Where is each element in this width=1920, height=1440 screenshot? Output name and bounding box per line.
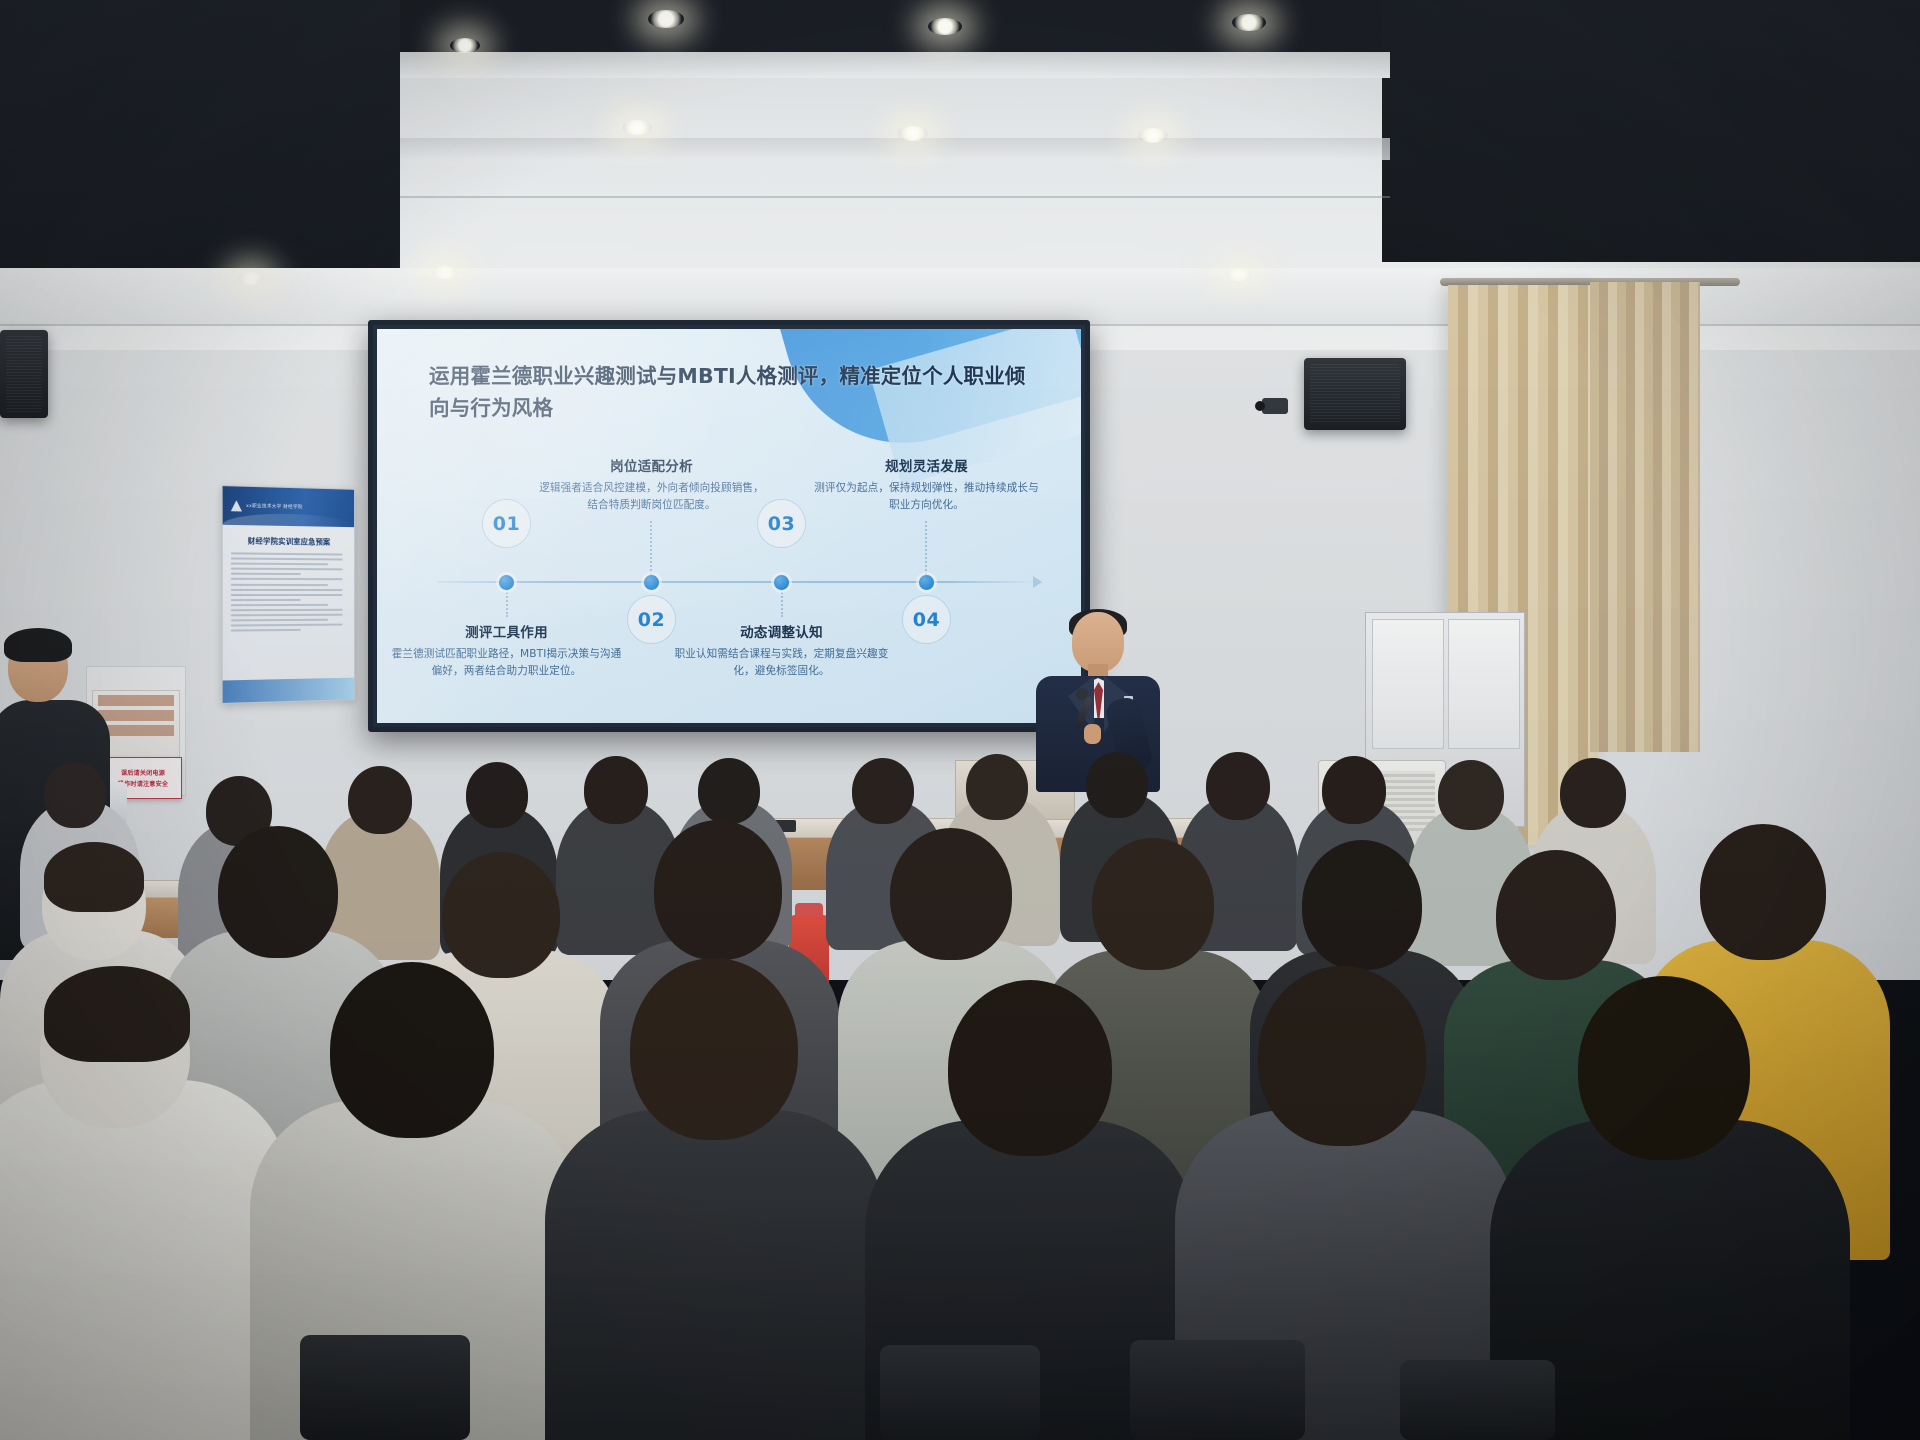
- audience-body: [0, 1080, 290, 1440]
- audience-head: [442, 852, 560, 978]
- timeline-dot-1: [499, 575, 514, 590]
- timeline-heading-4: 规划灵活发展: [809, 455, 1044, 475]
- timeline-number-1: 01: [482, 499, 531, 548]
- ceiling-beam-1: [400, 52, 1390, 78]
- timeline-body-4: 测评仅为起点，保持规划弹性，推动持续成长与职业方向优化。: [809, 480, 1044, 514]
- timeline-dot-4: [919, 575, 934, 590]
- poster-header: xx职业技术大学 财经学院: [223, 486, 354, 527]
- timeline-block-1: 测评工具作用 霍兰德测试匹配职业路径，MBTI揭示决策与沟通偏好，两者结合助力职…: [389, 621, 624, 680]
- audience-head: [1578, 976, 1750, 1160]
- audience-head: [1322, 756, 1386, 824]
- poster-text-line: [231, 583, 329, 585]
- audience-head: [44, 762, 106, 828]
- slide-title: 运用霍兰德职业兴趣测试与MBTI人格测评，精准定位个人职业倾向与行为风格: [429, 361, 1029, 425]
- timeline-body-3: 职业认知需结合课程与实践，定期复盘兴趣变化，避免标签固化。: [664, 646, 899, 680]
- audience-head: [852, 758, 914, 824]
- audience-head: [890, 828, 1012, 960]
- ceiling-dark-panel-left: [0, 0, 400, 268]
- poster-text-line: [231, 563, 329, 566]
- poster-body: 财经学院实训室应急预案: [223, 525, 354, 643]
- cabinet-door-left[interactable]: [1372, 619, 1444, 749]
- ceiling-light-9: [432, 266, 458, 279]
- timeline-number-4: 04: [902, 595, 951, 644]
- poster-text-line: [231, 624, 343, 627]
- audience-body: [545, 1110, 885, 1440]
- poster-footer-band: [223, 678, 354, 703]
- ceiling-light-2: [928, 18, 962, 35]
- timeline-heading-3: 动态调整认知: [664, 621, 899, 641]
- audience-head: [1258, 966, 1426, 1146]
- microphone-head: [1076, 688, 1088, 700]
- poster-text-line: [231, 614, 343, 617]
- ceiling-light-4: [450, 38, 480, 53]
- timeline-block-3: 动态调整认知 职业认知需结合课程与实践，定期复盘兴趣变化，避免标签固化。: [664, 621, 899, 680]
- seated-person-left-hair: [4, 628, 72, 662]
- wall-speaker-left: [0, 330, 48, 418]
- audience-head: [1438, 760, 1504, 830]
- cabinet-door-right[interactable]: [1448, 619, 1520, 749]
- audience-head: [948, 980, 1112, 1156]
- chair-back: [1400, 1360, 1555, 1440]
- ceiling-light-10: [1226, 268, 1252, 281]
- timeline-stem-2: [650, 521, 652, 575]
- audience-hair: [44, 966, 190, 1062]
- camera-lens-icon: [1255, 401, 1265, 411]
- chair-back: [1130, 1340, 1305, 1440]
- audience-head: [1496, 850, 1616, 980]
- audience-head: [1086, 752, 1148, 818]
- poster-text-line: [231, 552, 343, 555]
- timeline-body-1: 霍兰德测试匹配职业路径，MBTI揭示决策与沟通偏好，两者结合助力职业定位。: [389, 646, 624, 680]
- timeline-stem-4: [925, 521, 927, 575]
- poster-text-line: [231, 599, 301, 601]
- ceiling-light-5: [622, 120, 652, 135]
- audience-head: [348, 766, 412, 834]
- ceiling-beam-2: [400, 138, 1390, 160]
- university-logo-icon: [231, 500, 242, 511]
- poster-title: 财经学院实训室应急预案: [231, 535, 347, 548]
- chair-back: [300, 1335, 470, 1440]
- timeline-stem-1: [506, 589, 508, 617]
- audience-head: [630, 958, 798, 1140]
- presenter-head: [1072, 612, 1124, 672]
- notice-strip: [98, 710, 174, 721]
- timeline-heading-2: 岗位适配分析: [534, 455, 769, 475]
- poster-text-line: [231, 558, 343, 561]
- audience-hair: [44, 842, 144, 912]
- chair-back: [880, 1345, 1040, 1440]
- audience-head: [654, 820, 782, 960]
- audience-head: [584, 756, 648, 824]
- window-curtain-right: [1590, 282, 1700, 752]
- safety-sign-line-1: 课后请关闭电源: [121, 768, 165, 777]
- timeline-dot-2: [644, 575, 659, 590]
- poster-org-line: xx职业技术大学 财经学院: [246, 503, 302, 510]
- timeline-arrow-icon: [1033, 576, 1042, 588]
- audience-head: [330, 962, 494, 1138]
- audience-head: [1302, 840, 1422, 970]
- timeline-block-4: 规划灵活发展 测评仅为起点，保持规划弹性，推动持续成长与职业方向优化。: [809, 455, 1044, 514]
- audience-head: [466, 762, 528, 828]
- audience-head: [1560, 758, 1626, 828]
- ceiling-light-1: [648, 10, 684, 28]
- wall-speaker-right: [1304, 358, 1406, 430]
- timeline-heading-1: 测评工具作用: [389, 621, 624, 641]
- ceiling-line-1: [400, 196, 1390, 198]
- audience-head: [1206, 752, 1270, 820]
- audience-head: [698, 758, 760, 824]
- audience-head: [1092, 838, 1214, 970]
- poster-text-line: [231, 568, 343, 571]
- poster-text-line: [231, 609, 343, 611]
- notice-strip: [98, 695, 174, 706]
- timeline-number-3: 03: [757, 499, 806, 548]
- poster-text-line: [231, 629, 301, 632]
- wall-poster-emergency-plan: xx职业技术大学 财经学院 财经学院实训室应急预案: [222, 485, 355, 704]
- presentation-slide: 运用霍兰德职业兴趣测试与MBTI人格测评，精准定位个人职业倾向与行为风格 测评工…: [377, 329, 1081, 723]
- poster-text-line: [231, 589, 343, 591]
- timeline-stem-3: [781, 589, 783, 617]
- ceiling-light-3: [1232, 14, 1266, 31]
- timeline-block-2: 岗位适配分析 逻辑强者适合风控建模，外向者倾向投顾销售，结合特质判断岗位匹配度。: [534, 455, 769, 514]
- poster-text-line: [231, 619, 329, 622]
- poster-text-line: [231, 604, 329, 606]
- audience-head: [966, 754, 1028, 820]
- ceiling-light-8: [238, 272, 264, 285]
- ceiling-light-6: [898, 126, 928, 141]
- ceiling-light-7: [1138, 128, 1168, 143]
- poster-text-line: [231, 594, 343, 596]
- poster-text-line: [231, 573, 301, 575]
- projector-screen: 运用霍兰德职业兴趣测试与MBTI人格测评，精准定位个人职业倾向与行为风格 测评工…: [368, 320, 1090, 732]
- audience-head: [218, 826, 338, 958]
- presenter-hand: [1084, 724, 1101, 744]
- audience-head: [1700, 824, 1826, 960]
- timeline-dot-3: [774, 575, 789, 590]
- ceiling-dark-panel-right: [1382, 0, 1920, 262]
- ceiling-camera: [1262, 398, 1288, 414]
- poster-text-line: [231, 578, 343, 580]
- timeline-axis: [437, 581, 1037, 583]
- timeline-body-2: 逻辑强者适合风控建模，外向者倾向投顾销售，结合特质判断岗位匹配度。: [534, 480, 769, 514]
- lecture-hall-scene: 运用霍兰德职业兴趣测试与MBTI人格测评，精准定位个人职业倾向与行为风格 测评工…: [0, 0, 1920, 1440]
